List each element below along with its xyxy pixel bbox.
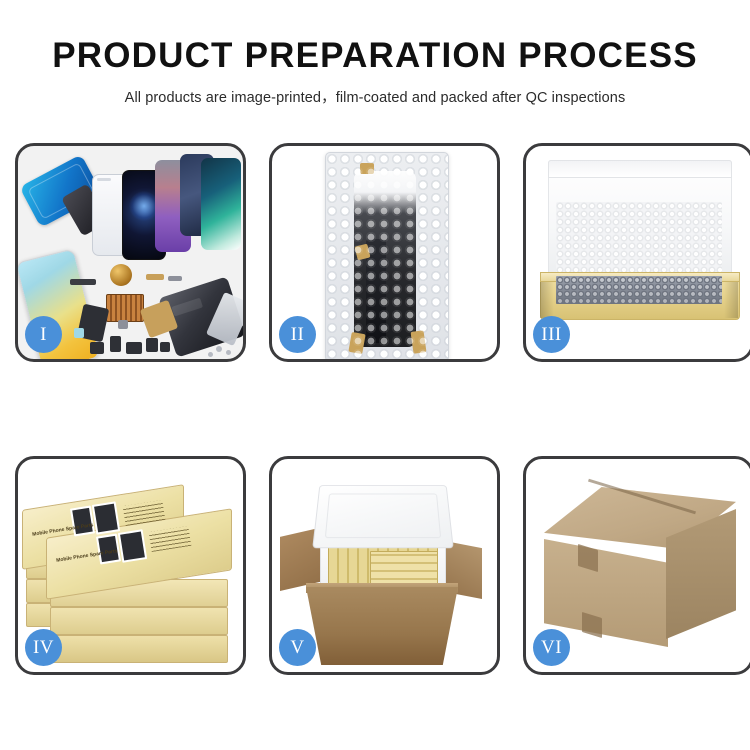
small-part-icon bbox=[118, 320, 128, 329]
small-part-icon bbox=[90, 342, 104, 354]
box-artwork-screen-icon bbox=[118, 529, 147, 563]
speaker-component-icon bbox=[110, 264, 132, 286]
process-step-card-1: I bbox=[15, 143, 246, 362]
product-preparation-page: PRODUCT PREPARATION PROCESS All products… bbox=[0, 0, 750, 750]
small-part-icon bbox=[74, 328, 84, 338]
carton-front-face bbox=[544, 539, 668, 647]
step-badge-2: II bbox=[279, 316, 316, 353]
box-lid-flap-icon bbox=[548, 160, 732, 178]
screw-icon bbox=[216, 346, 222, 352]
stacked-box-edge bbox=[50, 635, 228, 663]
step-badge-1: I bbox=[25, 316, 62, 353]
box-artwork-screen-icon bbox=[92, 501, 120, 534]
bubble-texture-overlay bbox=[326, 153, 448, 359]
small-part-icon bbox=[126, 342, 142, 354]
component-bar-icon bbox=[70, 279, 96, 285]
small-part-icon bbox=[146, 338, 158, 352]
bubble-wrap-fill-icon bbox=[556, 276, 722, 304]
stacked-box-edge bbox=[50, 607, 228, 635]
logic-board-icon bbox=[106, 294, 144, 322]
page-subtitle: All products are image-printed，film-coat… bbox=[0, 86, 750, 107]
process-step-grid: I II bbox=[15, 143, 735, 675]
teal-phone-icon bbox=[201, 158, 241, 250]
step-badge-3: III bbox=[533, 316, 570, 353]
process-step-card-2: II bbox=[269, 143, 500, 362]
screw-icon bbox=[208, 352, 213, 357]
process-step-card-4: Mobile Phone Spare Parts Mobile Phone Sp… bbox=[15, 456, 246, 675]
process-step-card-3: III bbox=[523, 143, 750, 362]
step-badge-5: V bbox=[279, 629, 316, 666]
carton-body-icon bbox=[306, 587, 458, 665]
step-badge-6: VI bbox=[533, 629, 570, 666]
screw-icon bbox=[226, 350, 231, 355]
foam-sheet-icon bbox=[556, 202, 722, 276]
small-part-icon bbox=[110, 336, 121, 352]
bubble-wrap-bag-icon bbox=[325, 152, 449, 359]
foam-lid-icon bbox=[312, 485, 454, 548]
box-artwork-screen-icon bbox=[70, 506, 95, 537]
step-badge-4: IV bbox=[25, 629, 62, 666]
small-part-icon bbox=[160, 342, 170, 352]
component-bar-icon bbox=[146, 274, 164, 280]
component-bar-icon bbox=[168, 276, 182, 281]
process-step-card-5: V bbox=[269, 456, 500, 675]
page-header: PRODUCT PREPARATION PROCESS All products… bbox=[0, 0, 750, 107]
page-title: PRODUCT PREPARATION PROCESS bbox=[0, 38, 750, 75]
process-step-card-6: VI bbox=[523, 456, 750, 675]
